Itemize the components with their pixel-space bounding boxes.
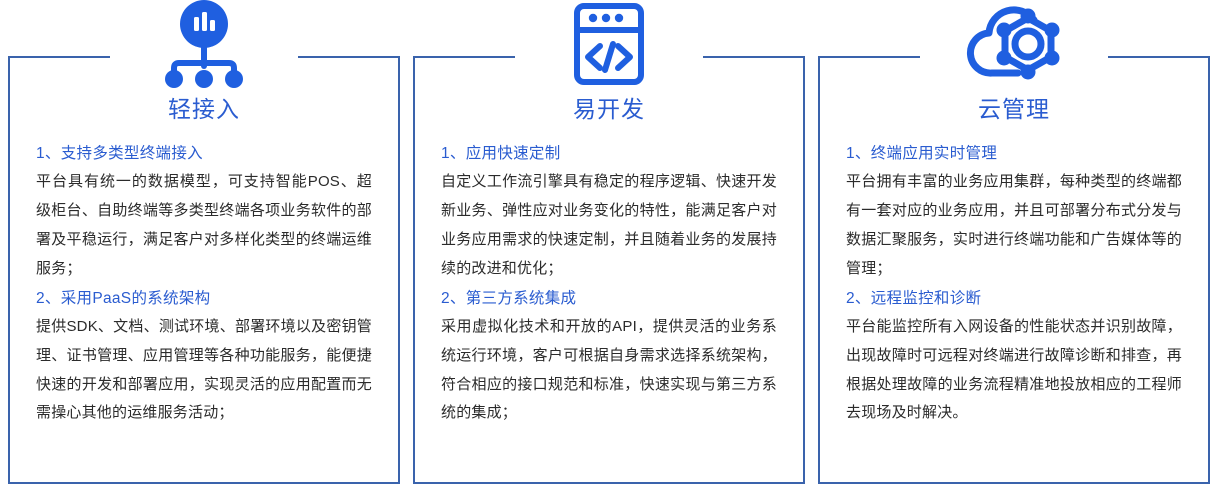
section-text: 提供SDK、文档、测试环境、部署环境以及密钥管理、证书管理、应用管理等各种功能服… bbox=[36, 313, 372, 428]
section-text: 平台拥有丰富的业务应用集群，每种类型的终端都有一套对应的业务应用，并且可部署分布… bbox=[846, 168, 1182, 283]
feature-card-cloud-management: 云管理 1、终端应用实时管理 平台拥有丰富的业务应用集群，每种类型的终端都有一套… bbox=[818, 58, 1210, 484]
card-body: 1、支持多类型终端接入 平台具有统一的数据模型，可支持智能POS、超级柜台、自助… bbox=[10, 121, 398, 428]
card-top-rule-right bbox=[1108, 56, 1210, 58]
section-text: 自定义工作流引擎具有稳定的程序逻辑、快速开发新业务、弹性应对业务变化的特性，能满… bbox=[441, 168, 777, 283]
feature-section: 2、第三方系统集成 采用虚拟化技术和开放的API，提供灵活的业务系统运行环境，客… bbox=[441, 284, 777, 429]
feature-section: 2、采用PaaS的系统架构 提供SDK、文档、测试环境、部署环境以及密钥管理、证… bbox=[36, 284, 372, 429]
card-title: 易开发 bbox=[415, 58, 803, 121]
card-body: 1、应用快速定制 自定义工作流引擎具有稳定的程序逻辑、快速开发新业务、弹性应对业… bbox=[415, 121, 803, 428]
section-text: 采用虚拟化技术和开放的API，提供灵活的业务系统运行环境，客户可根据自身需求选择… bbox=[441, 313, 777, 428]
card-top-rule-right bbox=[298, 56, 400, 58]
section-heading: 2、采用PaaS的系统架构 bbox=[36, 284, 372, 313]
card-top-rule-left bbox=[8, 56, 110, 58]
feature-section: 1、应用快速定制 自定义工作流引擎具有稳定的程序逻辑、快速开发新业务、弹性应对业… bbox=[441, 139, 777, 284]
feature-section: 1、支持多类型终端接入 平台具有统一的数据模型，可支持智能POS、超级柜台、自助… bbox=[36, 139, 372, 284]
feature-card-light-access: 轻接入 1、支持多类型终端接入 平台具有统一的数据模型，可支持智能POS、超级柜… bbox=[8, 58, 400, 484]
card-title: 云管理 bbox=[820, 58, 1208, 121]
feature-section: 1、终端应用实时管理 平台拥有丰富的业务应用集群，每种类型的终端都有一套对应的业… bbox=[846, 139, 1182, 284]
section-heading: 1、终端应用实时管理 bbox=[846, 139, 1182, 168]
card-top-rule-left bbox=[818, 56, 920, 58]
card-title: 轻接入 bbox=[10, 58, 398, 121]
section-text: 平台能监控所有入网设备的性能状态并识别故障，出现故障时可远程对终端进行故障诊断和… bbox=[846, 313, 1182, 428]
feature-section: 2、远程监控和诊断 平台能监控所有入网设备的性能状态并识别故障，出现故障时可远程… bbox=[846, 284, 1182, 429]
card-body: 1、终端应用实时管理 平台拥有丰富的业务应用集群，每种类型的终端都有一套对应的业… bbox=[820, 121, 1208, 428]
section-heading: 2、远程监控和诊断 bbox=[846, 284, 1182, 313]
card-top-rule-left bbox=[413, 56, 515, 58]
section-text: 平台具有统一的数据模型，可支持智能POS、超级柜台、自助终端等多类型终端各项业务… bbox=[36, 168, 372, 283]
features-board: 轻接入 1、支持多类型终端接入 平台具有统一的数据模型，可支持智能POS、超级柜… bbox=[0, 0, 1219, 498]
card-top-rule-right bbox=[703, 56, 805, 58]
section-heading: 1、支持多类型终端接入 bbox=[36, 139, 372, 168]
section-heading: 1、应用快速定制 bbox=[441, 139, 777, 168]
section-heading: 2、第三方系统集成 bbox=[441, 284, 777, 313]
feature-card-easy-development: 易开发 1、应用快速定制 自定义工作流引擎具有稳定的程序逻辑、快速开发新业务、弹… bbox=[413, 58, 805, 484]
